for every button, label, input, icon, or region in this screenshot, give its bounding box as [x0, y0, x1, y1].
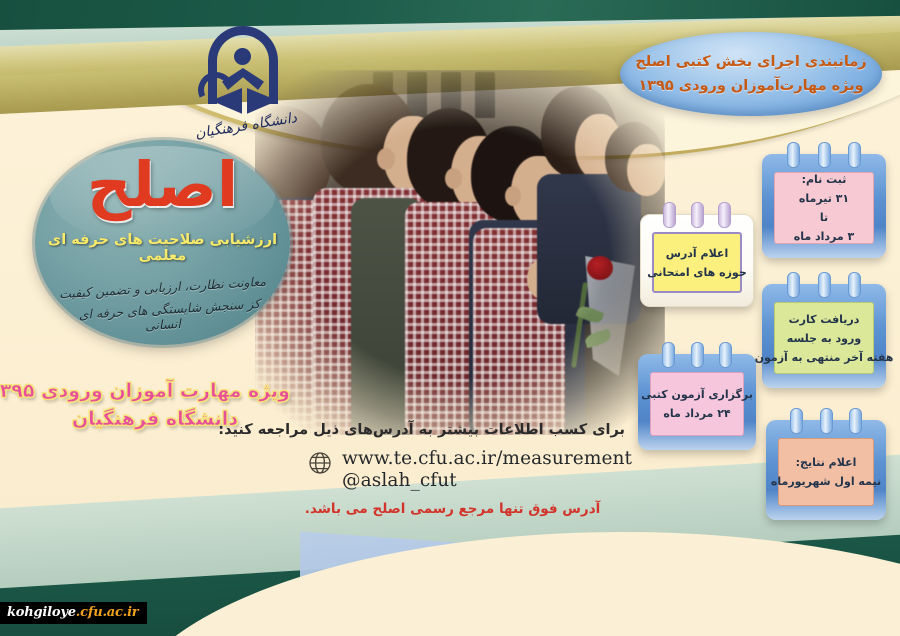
calendar-ring-icon: [818, 142, 831, 168]
calendar-pad: برگزاری آزمون کتبی ۲۴ مرداد ماه: [650, 372, 744, 436]
calendar-line: ۳۱ تیرماه: [799, 192, 849, 205]
calendar-line: هفته آخر منتهی به آزمون: [755, 351, 894, 364]
calendar-pad: ثبت نام: ۳۱ تیرماه تا ۳ مرداد ماه: [774, 172, 874, 244]
calendar-line: ۲۴ مرداد ماه: [663, 407, 730, 420]
calendar-pad: اعلام نتایج: نیمه اول شهریورماه: [778, 438, 874, 506]
calendar-rings: [762, 272, 886, 298]
schedule-banner-line-1: زمانبندی اجرای بخش کتبی اصلح: [635, 54, 866, 70]
contact-note: آدرس فوق تنها مرجع رسمی اصلح می باشد.: [280, 501, 625, 517]
globe-icon: [308, 451, 332, 479]
watermark-primary: kohgiloye: [7, 605, 76, 620]
schedule-banner: زمانبندی اجرای بخش کتبی اصلح ویژه مهارت‌…: [620, 32, 882, 116]
calendar-ring-icon: [691, 202, 704, 228]
calendar-line: برگزاری آزمون کتبی: [641, 388, 753, 401]
calendar-line: ثبت نام:: [802, 173, 847, 186]
calendar-ring-icon: [818, 272, 831, 298]
calendar-card-exam-center-address[interactable]: اعلام آدرس حوزه های امتحانی: [640, 202, 754, 307]
background-photo: [255, 70, 665, 435]
calendar-card-results[interactable]: اعلام نتایج: نیمه اول شهریورماه: [766, 408, 886, 520]
logo-head-icon: [234, 48, 251, 65]
calendar-line: ورود به جلسه: [787, 332, 861, 345]
watermark-secondary: .cfu.ac.ir: [76, 605, 139, 620]
calendar-ring-icon: [787, 142, 800, 168]
calendar-rings: [640, 202, 754, 228]
contact-block: برای کسب اطلاعات بیشتر به آدرس‌های ذیل م…: [280, 422, 625, 517]
contact-heading: برای کسب اطلاعات بیشتر به آدرس‌های ذیل م…: [280, 422, 625, 438]
calendar-line: نیمه اول شهریورماه: [771, 475, 881, 488]
calendar-line: ۳ مرداد ماه: [794, 230, 855, 243]
calendar-rings: [766, 408, 886, 434]
calendar-ring-icon: [848, 272, 861, 298]
calendar-ring-icon: [848, 142, 861, 168]
calendar-ring-icon: [849, 408, 862, 434]
website-url[interactable]: www.te.cfu.ac.ir/measurement: [342, 448, 632, 469]
calendar-ring-icon: [663, 202, 676, 228]
calendar-ring-icon: [820, 408, 833, 434]
calendar-pad: اعلام آدرس حوزه های امتحانی: [652, 232, 742, 293]
calendar-card-entry-card[interactable]: دریافت کارت ورود به جلسه هفته آخر منتهی …: [762, 272, 886, 388]
calendar-rings: [638, 342, 756, 368]
calendar-pad: دریافت کارت ورود به جلسه هفته آخر منتهی …: [774, 302, 874, 374]
calendar-line: تا: [820, 211, 828, 224]
calendar-ring-icon: [691, 342, 704, 368]
site-watermark: kohgiloye.cfu.ac.ir: [0, 602, 147, 624]
calendar-ring-icon: [718, 202, 731, 228]
schedule-banner-line-2: ویژه مهارت‌آموزان ورودی ۱۳۹۵: [638, 78, 863, 94]
calendar-line: حوزه های امتحانی: [647, 266, 747, 279]
calendar-rings: [762, 142, 886, 168]
calendar-line: دریافت کارت: [789, 313, 860, 326]
farhangian-university-logo: دانشگاه فرهنگیان: [190, 22, 300, 142]
calendar-card-written-exam[interactable]: برگزاری آزمون کتبی ۲۴ مرداد ماه: [638, 342, 756, 450]
badge-title: اصلح: [35, 154, 290, 216]
contact-urls: www.te.cfu.ac.ir/measurement @aslah_cfut: [280, 448, 625, 491]
badge-subtitle: ارزشیابی صلاحیت های حرفه ای معلمی: [35, 232, 290, 264]
calendar-line: اعلام آدرس: [666, 247, 728, 260]
poster-canvas: دانشگاه فرهنگیان اصلح ارزشیابی صلاحیت ها…: [0, 0, 900, 636]
social-handle[interactable]: @aslah_cfut: [342, 470, 632, 491]
calendar-ring-icon: [662, 342, 675, 368]
audience-headline-line-1: ویژه مهارت آموزان ورودی ۱۳۹۵: [20, 378, 290, 406]
main-badge: اصلح ارزشیابی صلاحیت های حرفه ای معلمی م…: [35, 140, 290, 345]
calendar-ring-icon: [790, 408, 803, 434]
calendar-ring-icon: [719, 342, 732, 368]
calendar-ring-icon: [787, 272, 800, 298]
logo-caption: دانشگاه فرهنگیان: [184, 108, 309, 143]
calendar-line: اعلام نتایج:: [796, 456, 857, 469]
calendar-card-registration[interactable]: ثبت نام: ۳۱ تیرماه تا ۳ مرداد ماه: [762, 142, 886, 258]
